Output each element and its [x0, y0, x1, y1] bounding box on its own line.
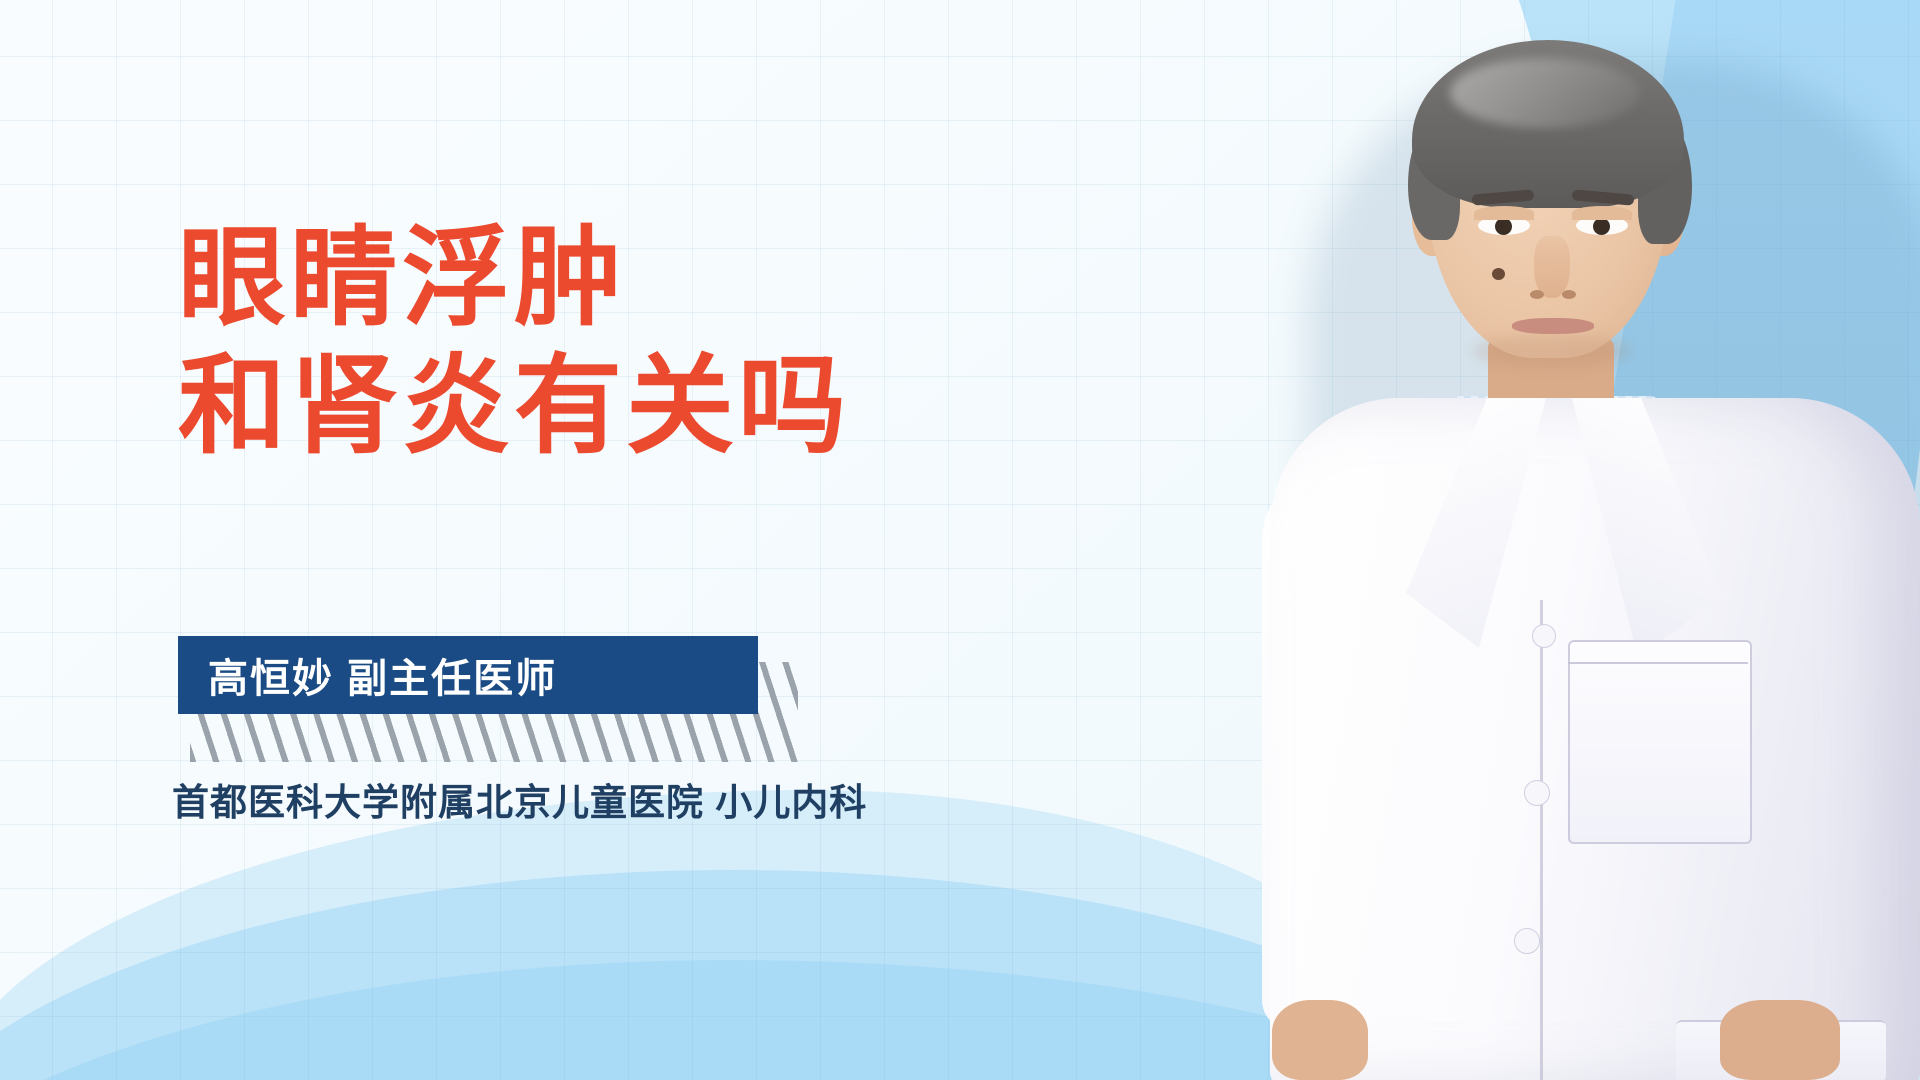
- headline-line-1: 眼睛浮肿: [178, 214, 850, 342]
- doctor-portrait: [1120, 0, 1920, 1080]
- facial-mole: [1492, 268, 1505, 280]
- hair-highlight: [1450, 58, 1640, 128]
- hand-left: [1272, 1000, 1368, 1080]
- thumbnail-canvas: 眼睛浮肿 和肾炎有关吗 高恒妙 副主任医师 首都医科大学附属北京儿童医院 小儿内…: [0, 0, 1920, 1080]
- eyelid-right: [1572, 206, 1632, 220]
- text-content-area: 眼睛浮肿 和肾炎有关吗 高恒妙 副主任医师 首都医科大学附属北京儿童医院 小儿内…: [0, 0, 1100, 1080]
- eyelid-left: [1474, 206, 1534, 220]
- headline-line-2: 和肾炎有关吗: [178, 342, 850, 470]
- chin-shadow: [1472, 334, 1632, 368]
- coat-chest-pocket-lip: [1568, 640, 1748, 664]
- coat-button-bottom: [1514, 928, 1540, 954]
- coat-chest-pocket: [1568, 640, 1752, 844]
- coat-button-top: [1532, 624, 1556, 648]
- nostril-left: [1530, 290, 1544, 299]
- hospital-department-line: 首都医科大学附属北京儿童医院 小儿内科: [172, 772, 867, 826]
- coat-button-middle: [1524, 780, 1550, 806]
- doctor-name-badge-group: 高恒妙 副主任医师: [178, 636, 798, 764]
- pupil-right: [1593, 218, 1610, 235]
- nostril-right: [1562, 290, 1576, 299]
- pupil-left: [1495, 218, 1512, 235]
- doctor-name-and-rank: 高恒妙 副主任医师: [178, 646, 557, 704]
- doctor-name-badge: 高恒妙 副主任医师: [178, 636, 758, 714]
- headline-title: 眼睛浮肿 和肾炎有关吗: [178, 214, 850, 470]
- hand-right: [1720, 1000, 1840, 1080]
- nose: [1534, 236, 1570, 298]
- coat-front-seam: [1540, 600, 1543, 1080]
- mouth: [1512, 318, 1594, 334]
